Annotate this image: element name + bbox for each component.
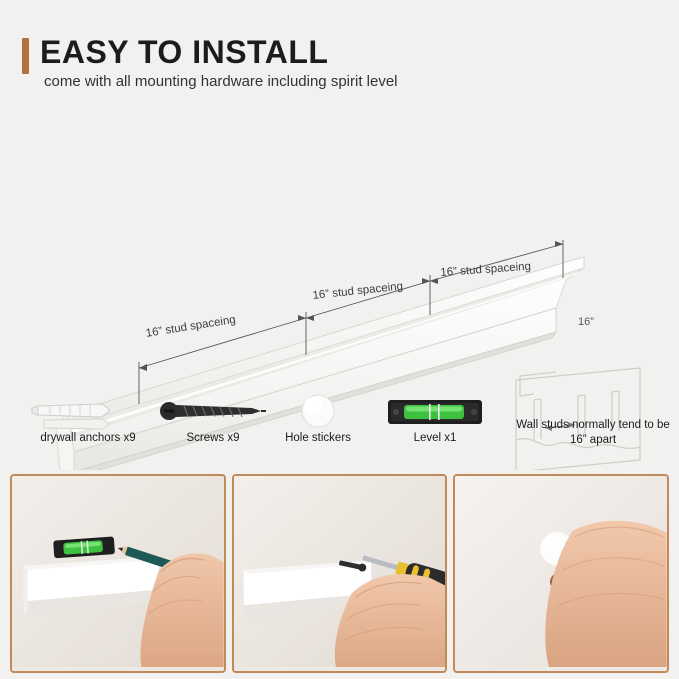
page-title: EASY TO INSTALL <box>40 34 328 71</box>
header: EASY TO INSTALL come with all mounting h… <box>0 16 679 84</box>
install-instruction-page: EASY TO INSTALL come with all mounting h… <box>0 0 679 679</box>
spirit-level-icon <box>370 390 500 432</box>
part-drywall-anchors: drywall anchors x9 <box>18 390 158 444</box>
anchor-icon <box>18 390 158 432</box>
part-level: Level x1 <box>370 390 500 444</box>
circle-sticker-icon <box>258 390 378 432</box>
accent-bar <box>22 38 29 74</box>
part-label-drywall-anchors: drywall anchors x9 <box>18 432 158 444</box>
stud-note: Wall studs normally tend to be 16” apart <box>508 418 678 448</box>
photo-3-art <box>455 476 667 667</box>
photo-screwdriver <box>232 474 448 673</box>
part-label-hole-stickers: Hole stickers <box>258 432 378 444</box>
part-hole-stickers: Hole stickers <box>258 390 378 444</box>
photo-strip <box>10 474 669 669</box>
photo-2-art <box>234 476 446 667</box>
photo-level-pencil <box>10 474 226 673</box>
part-label-level: Level x1 <box>370 432 500 444</box>
photo-1-art <box>12 476 224 667</box>
page-subtitle: come with all mounting hardware includin… <box>44 73 398 90</box>
stud-measure-label: 16” <box>578 316 594 328</box>
photo-hole-sticker <box>453 474 669 673</box>
